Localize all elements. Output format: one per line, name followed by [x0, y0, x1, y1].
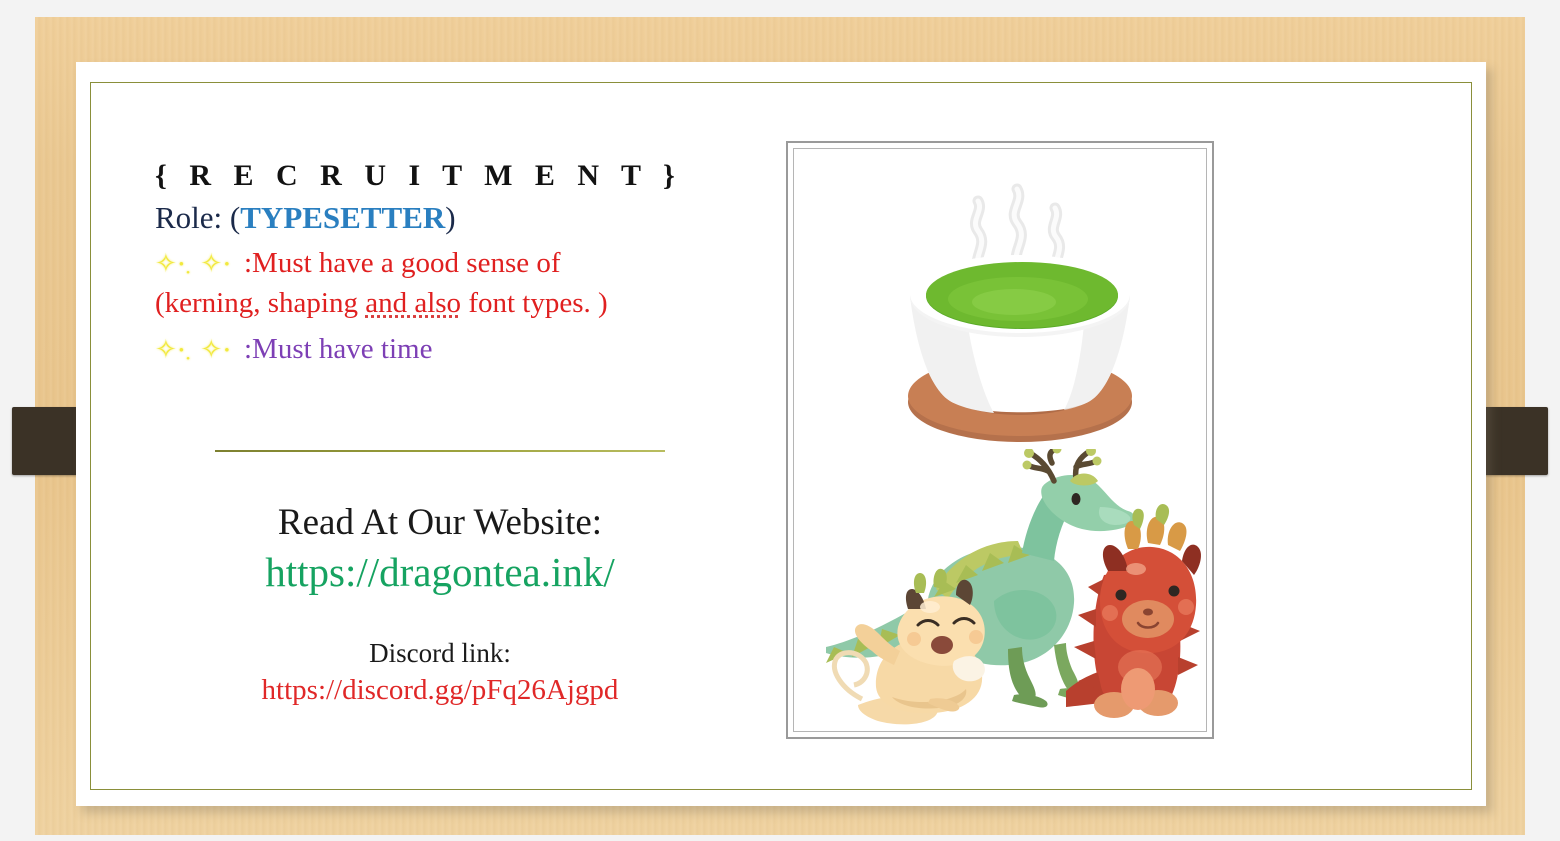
slide-paper-card: { R E C R U I T M E N T } Role: (TYPESET…	[76, 62, 1486, 806]
requirement-line-2: ✧•• ✧• :Must have time	[155, 329, 755, 370]
sparkle-icon-group-2: ✧•• ✧•	[155, 335, 240, 364]
sparkle-icon: ✧	[155, 249, 179, 278]
sparkle-icon-4: ✧	[200, 335, 224, 364]
discord-block: Discord link: https://discord.gg/pFq26Aj…	[150, 636, 730, 710]
sparkle-dot-icon-6: •	[224, 343, 231, 359]
recruitment-heading: { R E C R U I T M E N T }	[155, 158, 755, 195]
role-line: Role: (TYPESETTER)	[155, 197, 755, 239]
requirement-2-prefix: :	[244, 333, 252, 365]
section-divider	[215, 450, 665, 452]
role-close-paren: )	[445, 200, 455, 235]
role-label: Role: (	[155, 200, 240, 235]
sparkle-icon-2: ✧	[200, 249, 224, 278]
red-dragon	[1066, 504, 1201, 718]
discord-url-link[interactable]: https://discord.gg/pFq26Ajgpd	[150, 671, 730, 710]
sparkle-dot-icon-4: •	[179, 343, 186, 359]
role-value: TYPESETTER	[240, 200, 445, 235]
illustration-panel-inner	[793, 148, 1207, 732]
requirement-1-detail-underlined: and also	[365, 287, 461, 319]
sparkle-dot-icon: •	[179, 257, 186, 273]
sparkle-dot-icon-2: •	[186, 267, 192, 279]
sparkle-dot-icon-5: •	[186, 353, 192, 365]
requirement-1-text: Must have a good sense of	[252, 247, 560, 279]
dragons-illustration	[808, 449, 1207, 732]
sparkle-dot-icon-3: •	[224, 257, 231, 273]
website-title: Read At Our Website:	[150, 500, 730, 547]
slide-stage: { R E C R U I T M E N T } Role: (TYPESET…	[0, 0, 1560, 841]
tea-cup-illustration	[890, 167, 1150, 457]
requirement-1-detail-open: (kerning, shaping	[155, 287, 365, 319]
requirement-2-text: Must have time	[252, 333, 432, 365]
illustration-panel	[786, 141, 1214, 739]
recruitment-text-column: { R E C R U I T M E N T } Role: (TYPESET…	[155, 158, 755, 370]
sparkle-icon-3: ✧	[155, 335, 179, 364]
requirement-line-1: ✧•• ✧• :Must have a good sense of	[155, 243, 755, 284]
requirement-1-detail-line: (kerning, shaping and also font types. )	[155, 283, 755, 324]
website-url-link[interactable]: https://dragontea.ink/	[150, 547, 730, 599]
requirement-1-prefix: :	[244, 247, 252, 279]
requirement-1-detail-close: font types. )	[461, 287, 608, 319]
website-block: Read At Our Website: https://dragontea.i…	[150, 500, 730, 598]
discord-title: Discord link:	[150, 636, 730, 671]
sparkle-icon-group-1: ✧•• ✧•	[155, 249, 240, 278]
